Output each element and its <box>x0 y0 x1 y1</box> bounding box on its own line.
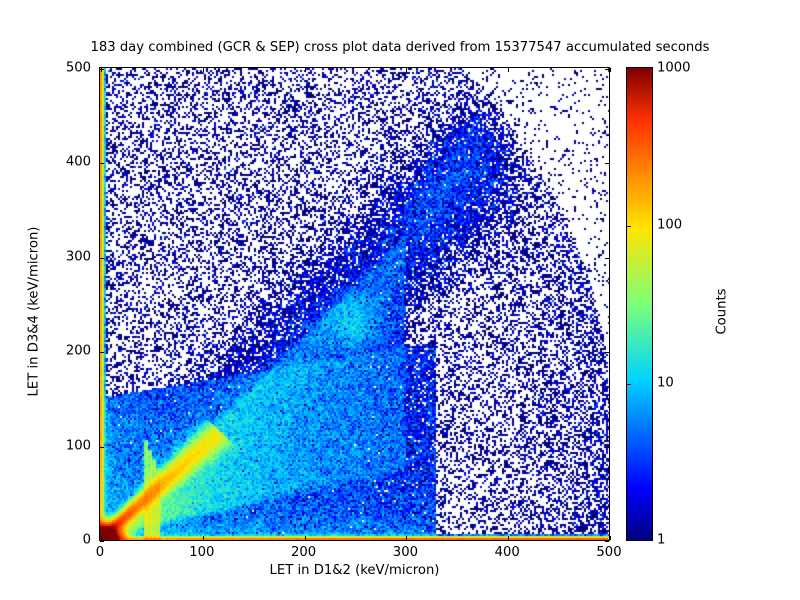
x-tick-label: 200 <box>291 545 316 560</box>
x-tick-label: 100 <box>189 545 214 560</box>
colorbar-label: Counts <box>715 212 730 412</box>
y-tick <box>100 352 104 353</box>
x-tick <box>508 536 509 540</box>
y-tick <box>100 258 104 259</box>
x-tick <box>610 536 611 540</box>
y-tick <box>605 69 609 70</box>
y-tick <box>605 163 609 164</box>
y-tick-label: 100 <box>39 438 91 453</box>
y-tick <box>605 447 609 448</box>
x-tick-label: 300 <box>393 545 418 560</box>
y-tick <box>100 163 104 164</box>
y-tick <box>605 352 609 353</box>
x-tick <box>203 68 204 72</box>
title-line-1: 183 day combined (GCR & SEP) cross plot … <box>0 39 800 57</box>
colorbar-tick <box>627 384 631 385</box>
plot-area <box>99 67 610 541</box>
colorbar-tick-label: 1000 <box>657 61 691 76</box>
colorbar-tick-label: 100 <box>657 218 682 233</box>
x-tick-label: 400 <box>495 545 520 560</box>
x-axis-label: LET in D1&2 (keV/micron) <box>99 563 610 578</box>
x-tick <box>101 536 102 540</box>
y-tick <box>100 447 104 448</box>
x-tick <box>305 536 306 540</box>
y-tick-label: 200 <box>39 344 91 359</box>
x-tick <box>610 68 611 72</box>
y-axis-label: LET in D3&4 (keV/micron) <box>27 212 42 412</box>
x-tick-label: 500 <box>596 545 621 560</box>
x-tick <box>406 536 407 540</box>
y-tick <box>100 69 104 70</box>
colorbar-tick-label: 1 <box>657 533 665 548</box>
y-tick-label: 500 <box>39 61 91 76</box>
x-tick <box>305 68 306 72</box>
colorbar-gradient <box>627 68 652 540</box>
y-tick-label: 300 <box>39 249 91 264</box>
x-tick <box>508 68 509 72</box>
colorbar-tick-label: 10 <box>657 375 674 390</box>
y-tick <box>100 541 104 542</box>
density-scatter-canvas <box>100 68 609 540</box>
y-tick <box>605 541 609 542</box>
y-tick-label: 400 <box>39 155 91 170</box>
y-tick-label: 0 <box>39 533 91 548</box>
x-tick <box>406 68 407 72</box>
y-tick <box>605 258 609 259</box>
figure-canvas: 183 day combined (GCR & SEP) cross plot … <box>0 0 800 600</box>
colorbar-tick <box>627 226 631 227</box>
colorbar <box>626 67 653 541</box>
x-tick <box>203 536 204 540</box>
x-tick-label: 0 <box>96 545 104 560</box>
